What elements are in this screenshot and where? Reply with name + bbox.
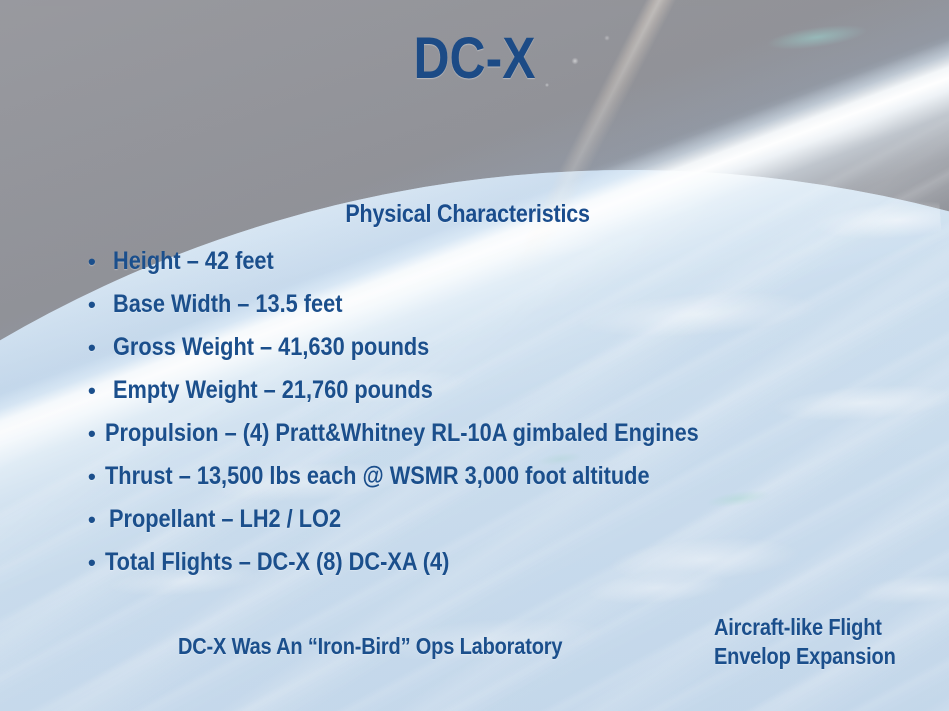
footer-caption-left: DC-X Was An “Iron-Bird” Ops Laboratory	[178, 632, 562, 660]
list-item-label: Propellant – LH2 / LO2	[109, 505, 341, 534]
list-item: • Total Flights – DC-X (8) DC-XA (4)	[88, 548, 928, 591]
list-item-label: Total Flights – DC-X (8) DC-XA (4)	[105, 548, 449, 577]
list-item-label: Height – 42 feet	[113, 247, 274, 276]
bullet-icon: •	[88, 550, 104, 576]
presentation-slide: DC-X Physical Characteristics • Height –…	[0, 0, 949, 711]
bullet-icon: •	[88, 464, 104, 490]
slide-title: DC-X	[66, 27, 882, 91]
list-item-label: Gross Weight – 41,630 pounds	[113, 333, 429, 362]
list-item: • Propulsion – (4) Pratt&Whitney RL-10A …	[88, 419, 928, 462]
list-item-label: Propulsion – (4) Pratt&Whitney RL-10A gi…	[105, 419, 699, 448]
bullet-icon: •	[88, 335, 104, 361]
footer-caption-right-line2: Envelop Expansion	[714, 642, 896, 671]
list-item: • Gross Weight – 41,630 pounds	[88, 333, 928, 376]
list-item: • Base Width – 13.5 feet	[88, 290, 928, 333]
bullet-icon: •	[88, 507, 104, 533]
list-item: • Propellant – LH2 / LO2	[88, 505, 928, 548]
list-item-label: Empty Weight – 21,760 pounds	[113, 376, 433, 405]
footer-caption-right: Aircraft-like Flight Envelop Expansion	[714, 613, 896, 671]
bullet-icon: •	[88, 378, 104, 404]
section-heading: Physical Characteristics	[60, 198, 876, 230]
bullet-icon: •	[88, 421, 104, 447]
list-item-label: Base Width – 13.5 feet	[113, 290, 342, 319]
list-item-label: Thrust – 13,500 lbs each @ WSMR 3,000 fo…	[105, 462, 650, 491]
list-item: • Height – 42 feet	[88, 247, 928, 290]
bullet-icon: •	[88, 292, 104, 318]
list-item: • Empty Weight – 21,760 pounds	[88, 376, 928, 419]
specifications-list: • Height – 42 feet • Base Width – 13.5 f…	[88, 247, 928, 591]
bullet-icon: •	[88, 249, 104, 275]
footer-caption-right-line1: Aircraft-like Flight	[714, 613, 896, 642]
list-item: • Thrust – 13,500 lbs each @ WSMR 3,000 …	[88, 462, 928, 505]
